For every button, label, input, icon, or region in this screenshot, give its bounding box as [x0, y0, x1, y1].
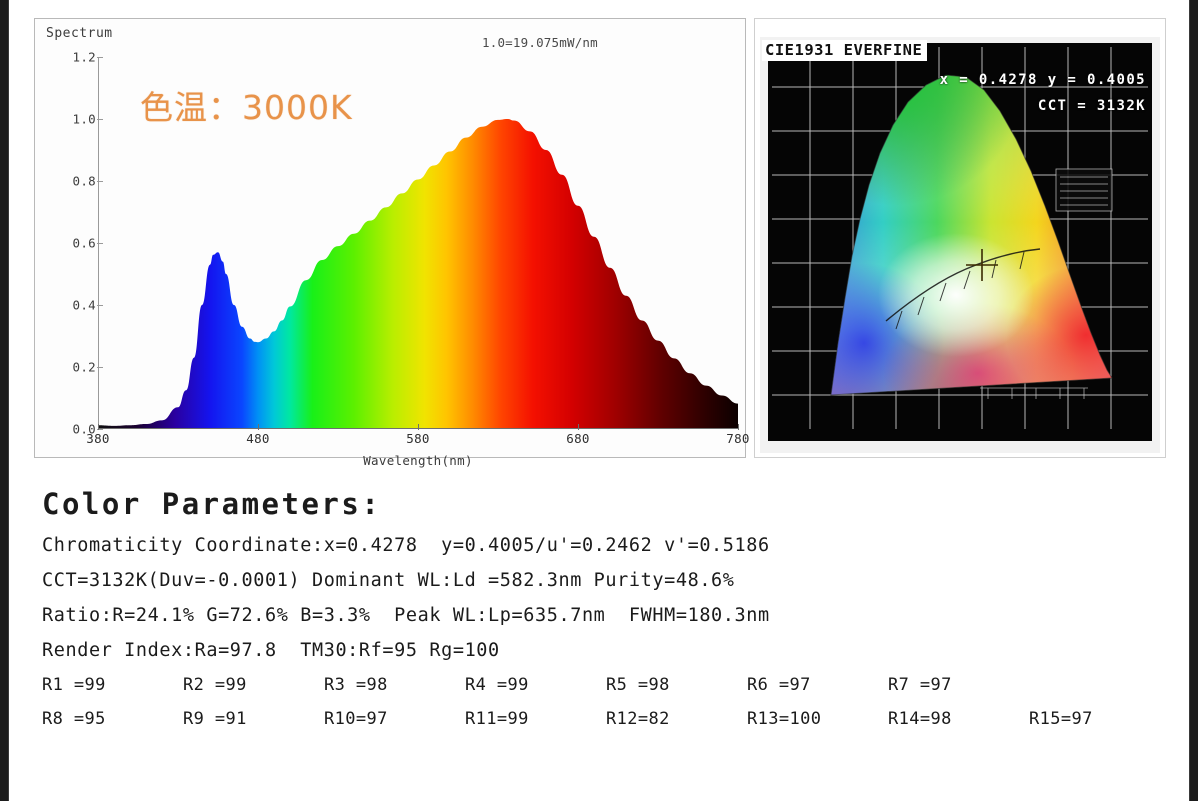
cri-value: R6 =97	[747, 675, 888, 695]
cri-value: R10=97	[324, 709, 465, 729]
x-tick	[418, 424, 419, 430]
page-title: Color Parameters:	[42, 487, 1172, 521]
cie-title-label: CIE1931 EVERFINE	[762, 40, 927, 61]
spectrum-plot-area: 0.00.20.40.60.81.01.2 380480580680780 Wa…	[98, 57, 738, 429]
cri-row-second: R8 =95R9 =91R10=97R11=99R12=82R13=100R14…	[42, 709, 1172, 729]
param-line-ratio: Ratio:R=24.1% G=72.6% B=3.3% Peak WL:Lp=…	[42, 605, 1172, 626]
color-parameters-block: Color Parameters: Chromaticity Coordinat…	[42, 487, 1172, 743]
param-line-render-index: Render Index:Ra=97.8 TM30:Rf=95 Rg=100	[42, 640, 1172, 661]
x-tick-label: 780	[726, 431, 749, 446]
cri-value: R8 =95	[42, 709, 183, 729]
cie-readout-xy: x = 0.4278 y = 0.4005	[940, 67, 1146, 93]
x-tick-label: 380	[86, 431, 109, 446]
cri-value: R7 =97	[888, 675, 1029, 695]
y-tick-label: 0.4	[73, 298, 96, 313]
cri-value: R4 =99	[465, 675, 606, 695]
cri-value: R14=98	[888, 709, 1029, 729]
x-tick-label: 580	[406, 431, 429, 446]
y-tick	[97, 181, 103, 182]
cri-value: R11=99	[465, 709, 606, 729]
y-tick	[97, 305, 103, 306]
y-tick	[97, 57, 103, 58]
y-tick-label: 0.8	[73, 174, 96, 189]
cri-row-first: R1 =99R2 =99R3 =98R4 =99R5 =98R6 =97R7 =…	[42, 675, 1172, 695]
x-tick	[578, 424, 579, 430]
y-tick	[97, 367, 103, 368]
cie-readout-cct: CCT = 3132K	[940, 93, 1146, 119]
y-tick	[97, 119, 103, 120]
instrument-panels: Spectrum 1.0=19.075mW/nm 色温：3000K	[9, 0, 1191, 470]
x-tick	[738, 424, 739, 430]
y-tick-label: 0.6	[73, 236, 96, 251]
cri-value: R2 =99	[183, 675, 324, 695]
x-tick	[98, 424, 99, 430]
cri-value: R15=97	[1029, 709, 1170, 729]
report-page: Spectrum 1.0=19.075mW/nm 色温：3000K	[8, 0, 1190, 801]
cri-value: R9 =91	[183, 709, 324, 729]
cie-frame: x = 0.4278 y = 0.4005 CCT = 3132K CIE193…	[760, 37, 1160, 453]
cri-value: R1 =99	[42, 675, 183, 695]
x-tick	[258, 424, 259, 430]
y-tick-group: 0.00.20.40.60.81.01.2	[98, 57, 738, 429]
cie-legend-box	[1056, 169, 1112, 211]
param-line-chromaticity: Chromaticity Coordinate:x=0.4278 y=0.400…	[42, 535, 1172, 556]
cri-value: R13=100	[747, 709, 888, 729]
cie-panel: x = 0.4278 y = 0.4005 CCT = 3132K CIE193…	[754, 18, 1166, 458]
y-tick-label: 0.2	[73, 360, 96, 375]
param-line-cct: CCT=3132K(Duv=-0.0001) Dominant WL:Ld =5…	[42, 570, 1172, 591]
y-tick-label: 1.2	[73, 50, 96, 65]
cri-value: R3 =98	[324, 675, 465, 695]
spectrum-axis-title: Spectrum	[46, 26, 113, 41]
x-tick-label: 480	[246, 431, 269, 446]
normalization-text: 1.0=19.075mW/nm	[482, 35, 598, 50]
cri-value: R12=82	[606, 709, 747, 729]
x-axis-title: Wavelength(nm)	[98, 453, 738, 468]
spectrum-panel: Spectrum 1.0=19.075mW/nm 色温：3000K	[34, 18, 746, 458]
x-tick-label: 680	[566, 431, 589, 446]
y-tick	[97, 243, 103, 244]
cri-value: R5 =98	[606, 675, 747, 695]
cie-chromaticity-diagram: x = 0.4278 y = 0.4005 CCT = 3132K	[768, 43, 1152, 441]
cie-readout: x = 0.4278 y = 0.4005 CCT = 3132K	[940, 67, 1146, 119]
y-tick-label: 1.0	[73, 112, 96, 127]
